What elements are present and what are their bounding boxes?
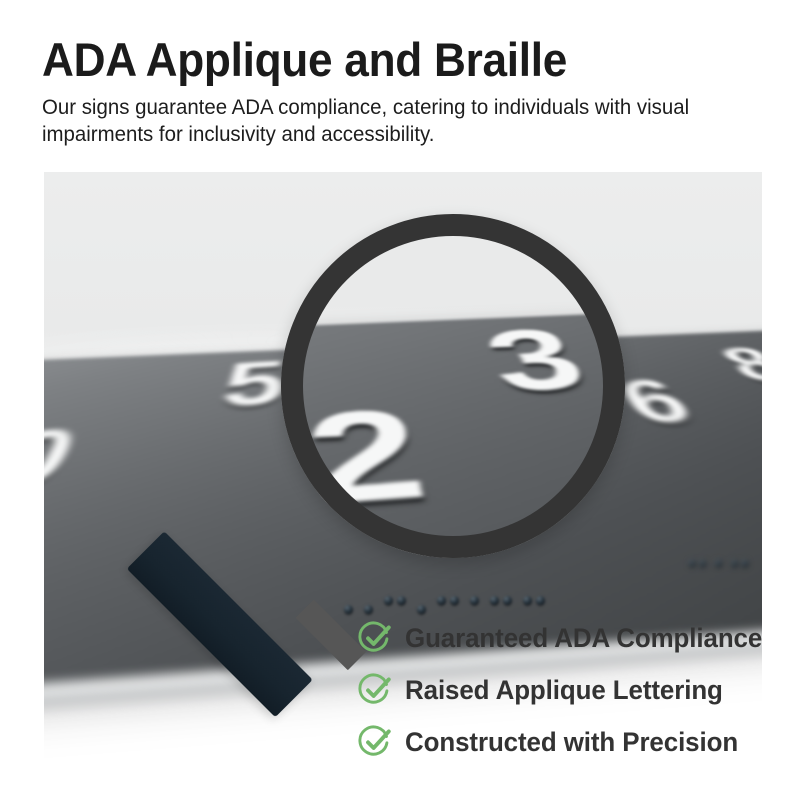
braille-dot [470,596,479,605]
feature-item: Guaranteed ADA Compliance [358,612,768,664]
header-block: ADA Applique and Braille Our signs guara… [42,33,762,148]
braille-dot [689,560,696,567]
braille-dot [490,596,499,605]
feature-label: Constructed with Precision [405,727,738,758]
braille-dot [731,560,738,567]
page-subtitle: Our signs guarantee ADA compliance, cate… [42,94,726,148]
braille-dot [503,596,512,605]
braille-cell [715,560,722,574]
braille-dot [437,596,446,605]
circle-check-icon [358,621,392,655]
page-title: ADA Applique and Braille [42,33,719,87]
braille-dot [699,560,706,567]
feature-label: Guaranteed ADA Compliance [405,623,762,654]
feature-label: Raised Applique Lettering [405,675,723,706]
circle-check-icon [358,725,392,759]
ada-braille-promo-card: ADA Applique and Braille Our signs guara… [0,0,804,804]
braille-cell [344,605,353,614]
braille-dot [450,596,459,605]
braille-dot [397,596,406,605]
circle-check-icon [358,673,392,707]
braille-dot [344,605,353,614]
braille-dot [384,596,393,605]
feature-item: Constructed with Precision [358,716,768,768]
braille-cell [731,560,749,574]
braille-dot [741,560,748,567]
braille-dot [536,596,545,605]
feature-item: Raised Applique Lettering [358,664,768,716]
braille-dot [523,596,532,605]
braille-cell [689,560,707,574]
braille-text-row [689,560,758,574]
braille-dot [715,560,722,567]
feature-list: Guaranteed ADA Compliance Raised Appliqu… [358,612,768,768]
